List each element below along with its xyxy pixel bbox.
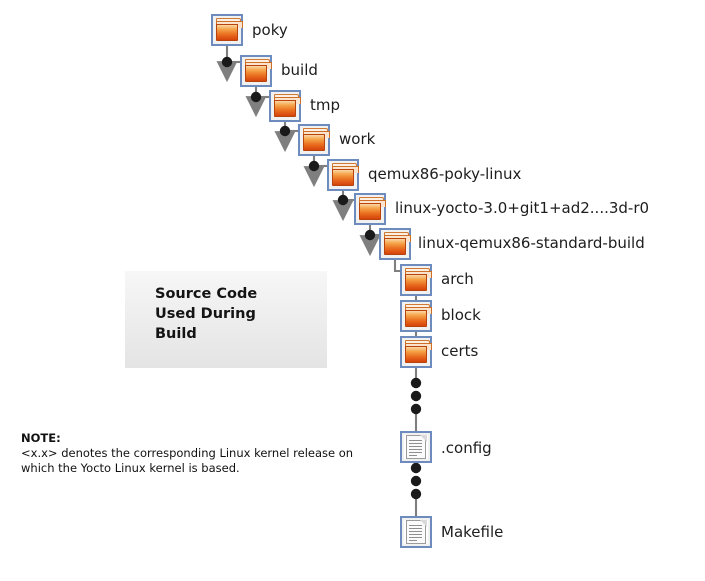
folder-icon[interactable] bbox=[379, 228, 411, 260]
node-label-stdbuild: linux-qemux86-standard-build bbox=[418, 235, 645, 251]
diagram-canvas: pokybuildtmpworkqemux86-poky-linuxlinux-… bbox=[0, 0, 705, 581]
connector-lines bbox=[0, 0, 705, 581]
file-icon[interactable] bbox=[400, 431, 432, 463]
folder-icon[interactable] bbox=[354, 193, 386, 225]
note-body: <x.x> denotes the corresponding Linux ke… bbox=[21, 446, 381, 476]
file-icon[interactable] bbox=[400, 516, 432, 548]
folder-icon[interactable] bbox=[240, 55, 272, 87]
ellipsis-dot bbox=[411, 391, 421, 401]
folder-icon[interactable] bbox=[400, 300, 432, 332]
legend-box: Source Code Used During Build bbox=[125, 271, 327, 368]
folder-icon[interactable] bbox=[298, 124, 330, 156]
node-label-makefile: Makefile bbox=[441, 524, 503, 540]
node-label-tmp: tmp bbox=[310, 97, 340, 113]
folder-icon[interactable] bbox=[269, 90, 301, 122]
node-label-certs: certs bbox=[441, 343, 478, 359]
node-label-block: block bbox=[441, 307, 481, 323]
node-label-arch: arch bbox=[441, 271, 474, 287]
ellipsis-dot bbox=[411, 404, 421, 414]
node-label-config: .config bbox=[441, 440, 492, 456]
node-label-qemux86: qemux86-poky-linux bbox=[368, 166, 521, 182]
node-label-linuxyocto: linux-yocto-3.0+git1+ad2....3d-r0 bbox=[395, 200, 649, 216]
node-label-build: build bbox=[281, 62, 318, 78]
node-label-poky: poky bbox=[252, 22, 288, 38]
note-heading: NOTE: bbox=[21, 430, 381, 446]
ellipsis-dot bbox=[411, 378, 421, 388]
folder-icon[interactable] bbox=[327, 159, 359, 191]
node-label-work: work bbox=[339, 131, 375, 147]
legend-label: Source Code Used During Build bbox=[155, 284, 257, 344]
ellipsis-dot bbox=[411, 463, 421, 473]
note-block: NOTE: <x.x> denotes the corresponding Li… bbox=[21, 430, 381, 476]
ellipsis-dot bbox=[411, 489, 421, 499]
folder-icon[interactable] bbox=[211, 14, 243, 46]
folder-icon[interactable] bbox=[400, 336, 432, 368]
folder-icon[interactable] bbox=[400, 264, 432, 296]
ellipsis-dot bbox=[411, 476, 421, 486]
